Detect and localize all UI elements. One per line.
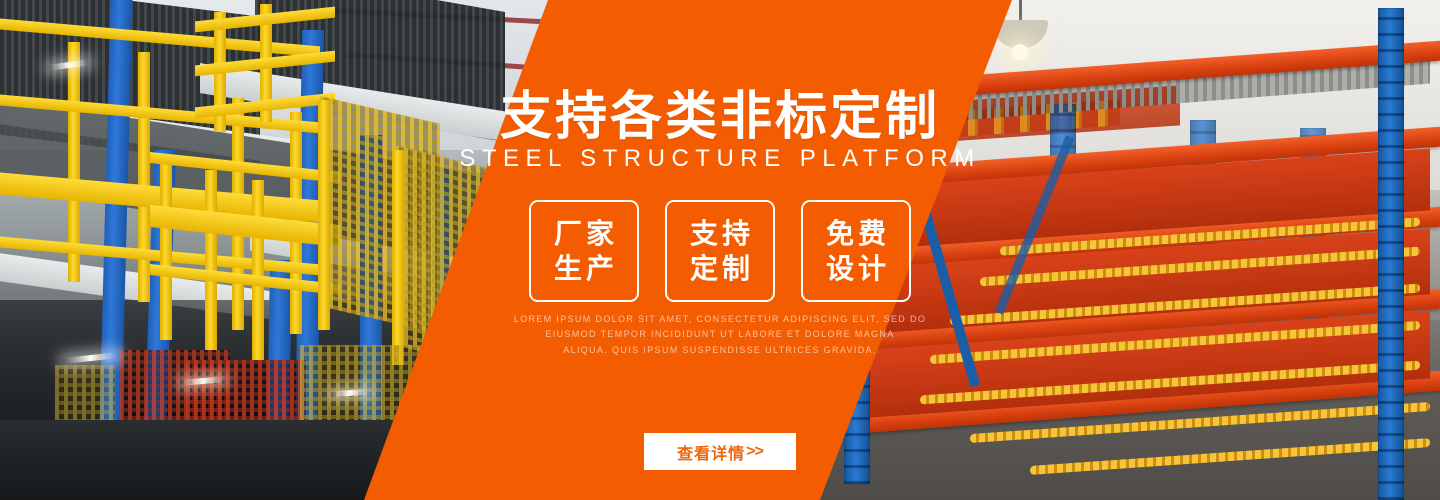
badge-line-2: 设计 bbox=[822, 251, 890, 286]
page-title: 支持各类非标定制 bbox=[0, 74, 1440, 149]
description-line-3: ALIQUA. QUIS IPSUM SUSPENDISSE ULTRICES … bbox=[0, 343, 1440, 358]
badge-line-1: 支持 bbox=[686, 216, 754, 251]
feature-badge-free-design: 免费 设计 bbox=[801, 200, 911, 302]
description-line-2: EIUSMOD TEMPOR INCIDIDUNT UT LABORE ET D… bbox=[0, 327, 1440, 342]
chevron-right-icon: >> bbox=[746, 443, 763, 461]
cta-label: 查看详情 bbox=[677, 440, 745, 464]
badge-line-2: 定制 bbox=[686, 251, 754, 286]
badge-line-1: 免费 bbox=[822, 216, 890, 251]
page-subtitle: STEEL STRUCTURE PLATFORM bbox=[0, 145, 1440, 173]
view-details-button[interactable]: 查看详情>> bbox=[644, 433, 796, 470]
description-text: LOREM IPSUM DOLOR SIT AMET, CONSECTETUR … bbox=[0, 312, 1440, 358]
cta-container: 查看详情>> bbox=[0, 433, 1440, 470]
description-line-1: LOREM IPSUM DOLOR SIT AMET, CONSECTETUR … bbox=[0, 312, 1440, 327]
banner-content: 支持各类非标定制 STEEL STRUCTURE PLATFORM 厂家 生产 … bbox=[0, 0, 1440, 500]
feature-badge-group: 厂家 生产 支持 定制 免费 设计 bbox=[0, 200, 1440, 302]
feature-badge-customization: 支持 定制 bbox=[665, 200, 775, 302]
badge-line-1: 厂家 bbox=[550, 216, 618, 251]
promo-banner: 支持各类非标定制 STEEL STRUCTURE PLATFORM 厂家 生产 … bbox=[0, 0, 1440, 500]
feature-badge-manufacturer: 厂家 生产 bbox=[529, 200, 639, 302]
badge-line-2: 生产 bbox=[550, 251, 618, 286]
